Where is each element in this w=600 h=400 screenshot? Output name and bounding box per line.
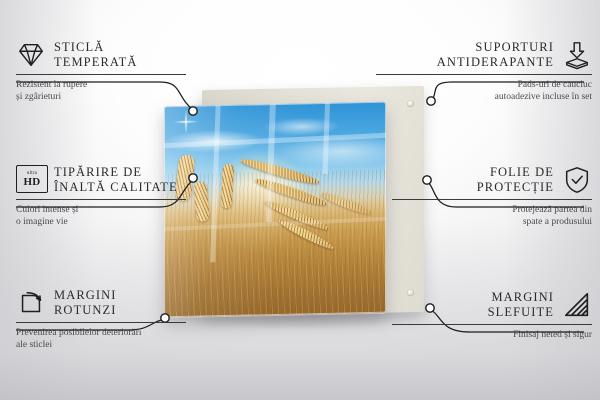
callout-high-quality-print: ultra HD TIPĂRIRE DE ÎNALTĂ CALITATE Cul… <box>16 165 206 228</box>
hd-badge-ultra: ultra <box>27 171 37 176</box>
wheat-ear <box>221 164 234 208</box>
hatched-triangle-icon <box>562 290 592 320</box>
callout-rule <box>392 199 592 200</box>
callout-header: FOLIE DE PROTECȚIE <box>392 165 592 195</box>
callout-header: MARGINI ROTUNZI <box>16 288 206 318</box>
hd-badge-hd: HD <box>23 177 40 188</box>
product-infographic: STICLĂ TEMPERATĂ Rezistent la rupere și … <box>0 0 600 400</box>
callout-title: MARGINI SLEFUITE <box>488 290 554 320</box>
callout-title: FOLIE DE PROTECȚIE <box>477 165 554 195</box>
callout-desc-line1: Prevenirea posibilelor deteriorări <box>16 328 206 340</box>
callout-rule <box>16 74 186 75</box>
pad-arrow-icon <box>562 40 592 70</box>
callout-header: ultra HD TIPĂRIRE DE ÎNALTĂ CALITATE <box>16 165 206 195</box>
callout-desc-line1: Protejează partea din <box>392 205 592 217</box>
callout-desc-line1: Rezistent la rupere <box>16 80 206 92</box>
callout-title: STICLĂ TEMPERATĂ <box>54 40 138 70</box>
callout-desc-line2: spate a produsului <box>392 217 592 229</box>
callout-rounded-edges: MARGINI ROTUNZI Prevenirea posibilelor d… <box>16 288 206 351</box>
callout-tempered-glass: STICLĂ TEMPERATĂ Rezistent la rupere și … <box>16 40 206 103</box>
callout-rule <box>376 74 592 75</box>
ultra-hd-icon: ultra HD <box>16 165 46 195</box>
callout-title: TIPĂRIRE DE ÎNALTĂ CALITATE <box>54 165 178 195</box>
callout-desc-line1: Pads-uri de cauciuc <box>376 80 592 92</box>
callout-rule <box>16 199 186 200</box>
rounded-corner-icon <box>16 288 46 318</box>
callout-polished-edges: MARGINI SLEFUITE Finisaj neted și sigur <box>392 290 592 342</box>
hd-badge: ultra HD <box>16 165 48 193</box>
diamond-icon <box>16 40 46 70</box>
callout-header: MARGINI SLEFUITE <box>392 290 592 320</box>
callout-desc-line1: Culori intense și <box>16 205 206 217</box>
callout-title: SUPORTURI ANTIDERAPANTE <box>437 40 554 70</box>
shield-check-icon <box>562 165 592 195</box>
callout-anti-slip-pads: SUPORTURI ANTIDERAPANTE Pads-uri de cauc… <box>376 40 592 103</box>
callout-protective-foil: FOLIE DE PROTECȚIE Protejează partea din… <box>392 165 592 228</box>
callout-rule <box>16 322 186 323</box>
callout-title: MARGINI ROTUNZI <box>54 288 117 318</box>
callout-header: STICLĂ TEMPERATĂ <box>16 40 206 70</box>
callout-desc-line2: autoadezive incluse în set <box>376 92 592 104</box>
callout-desc-line2: și zgârieturi <box>16 92 206 104</box>
callout-rule <box>392 324 592 325</box>
callout-desc-line2: ale sticlei <box>16 340 206 352</box>
callout-header: SUPORTURI ANTIDERAPANTE <box>376 40 592 70</box>
callout-desc-line2: o imagine vie <box>16 217 206 229</box>
callout-desc-line1: Finisaj neted și sigur <box>392 330 592 342</box>
